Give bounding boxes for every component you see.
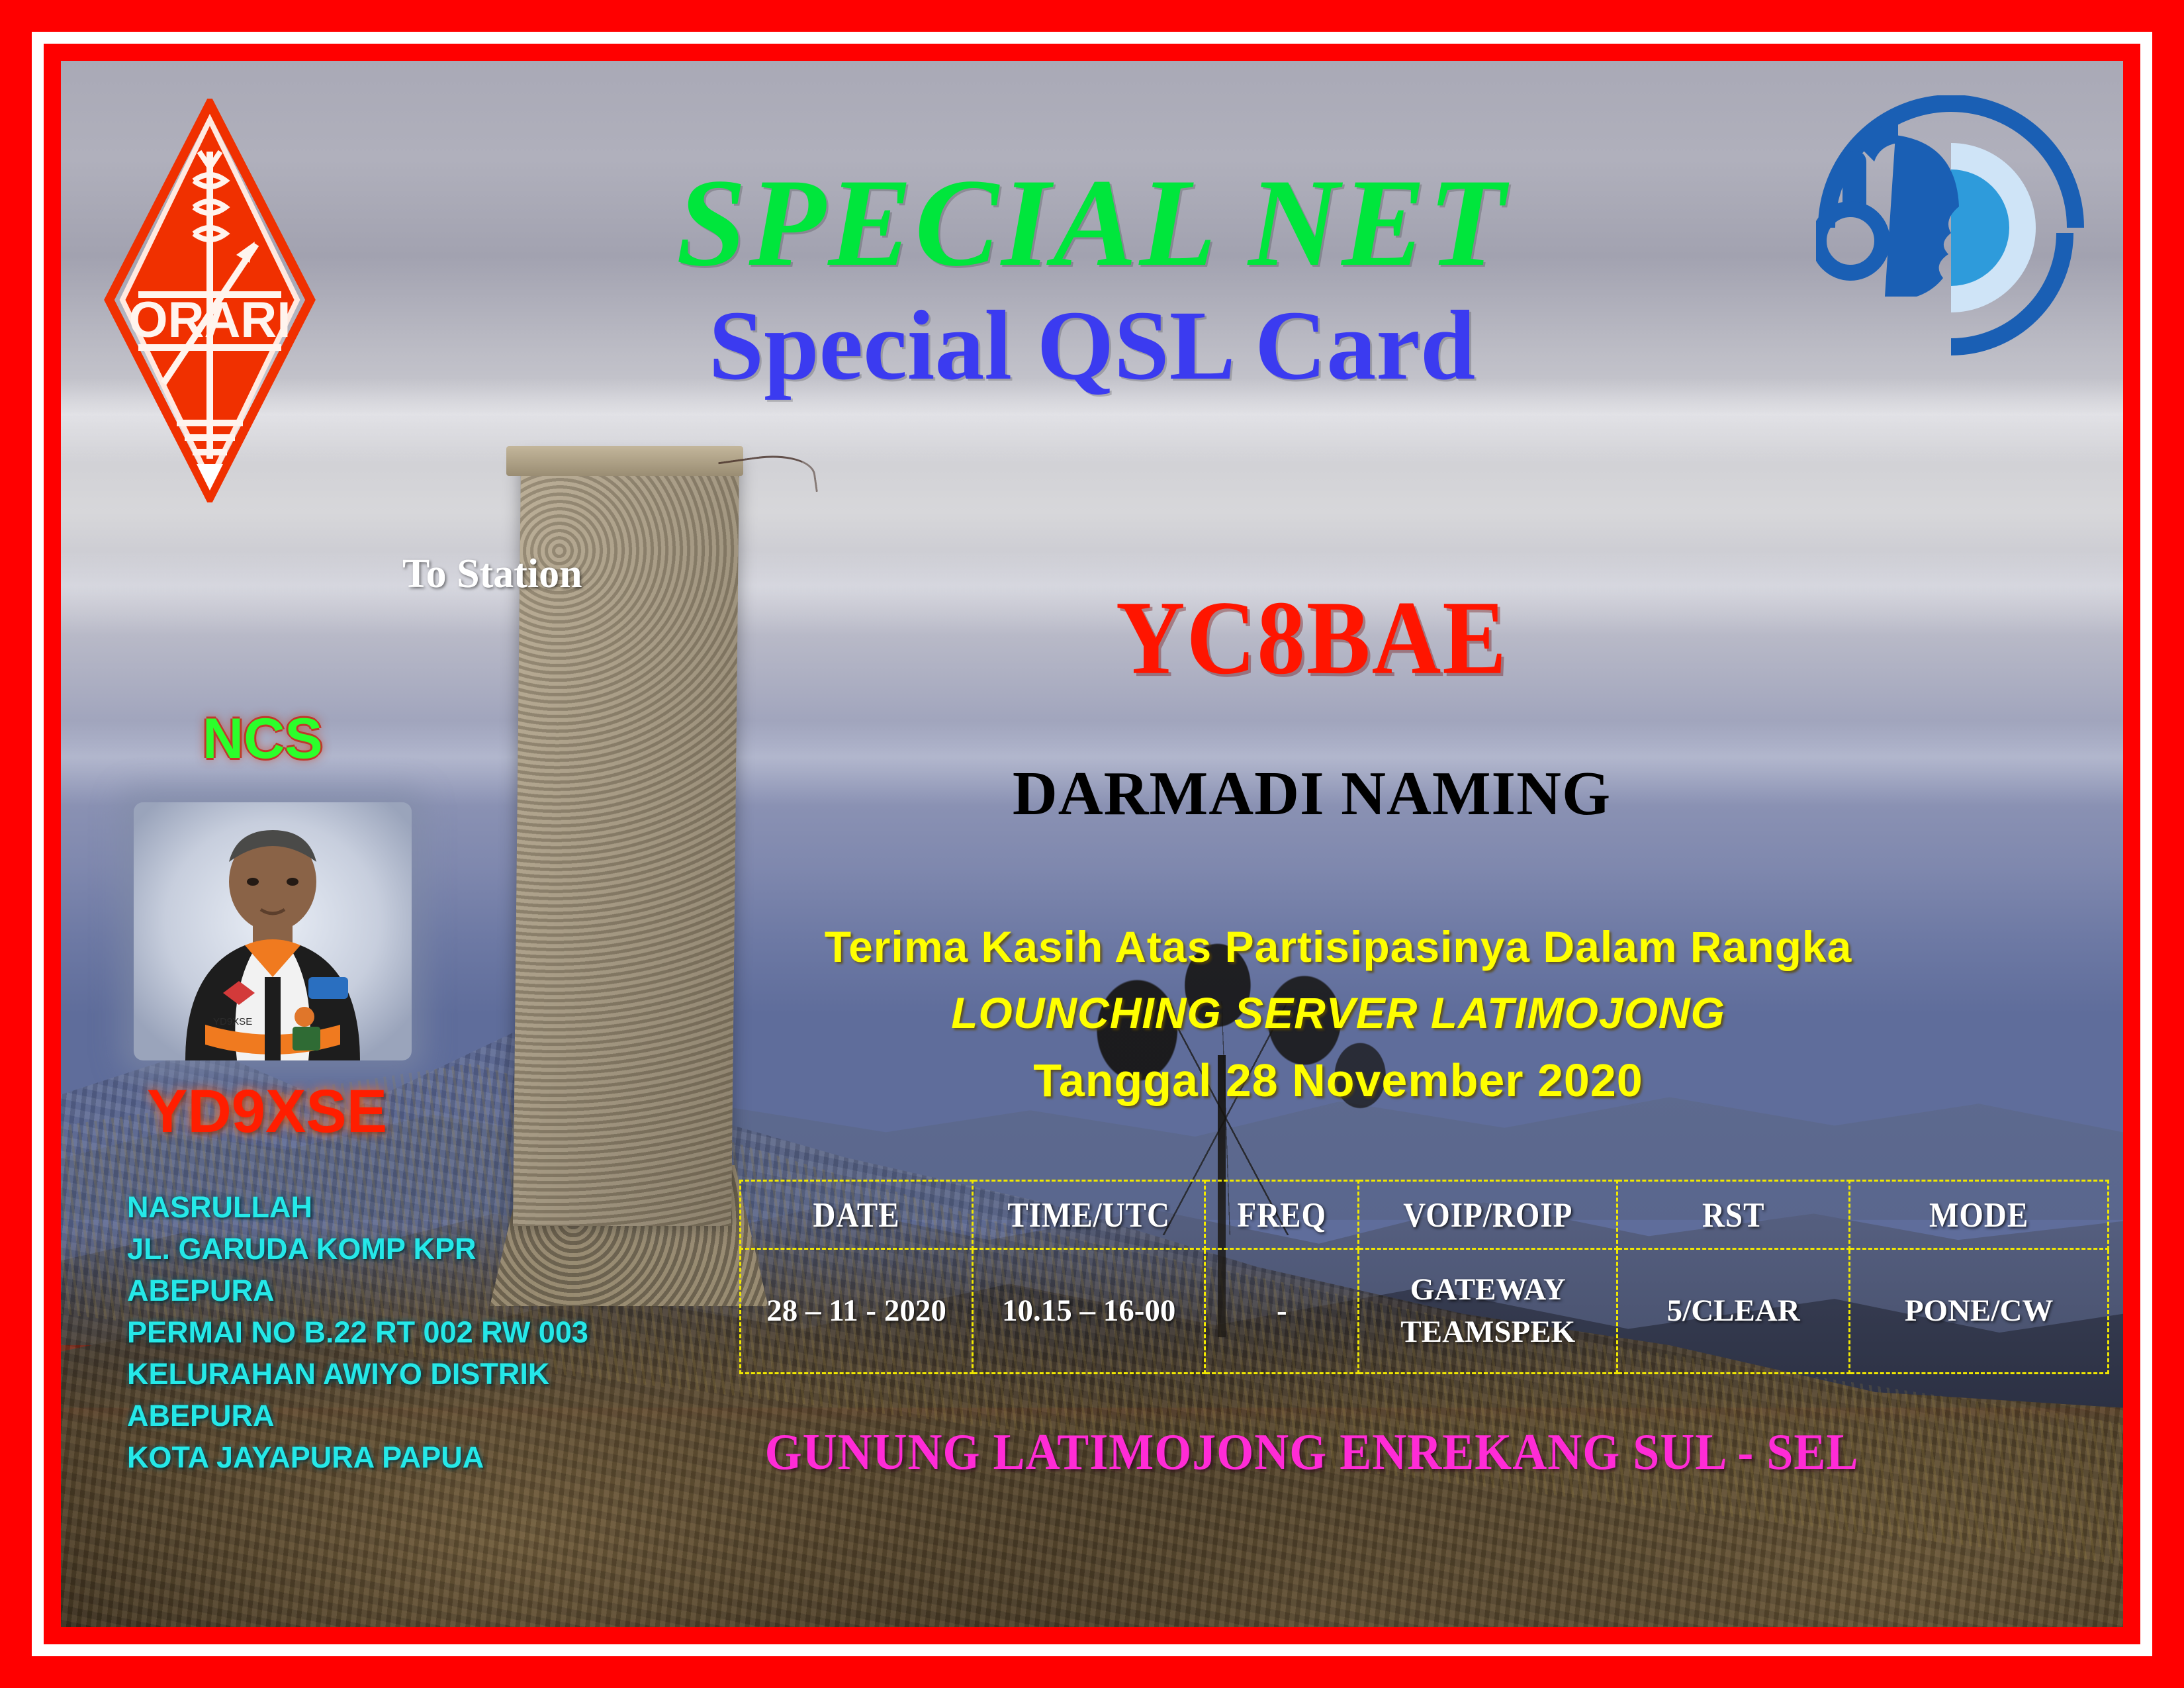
address-line: NASRULLAH (127, 1186, 630, 1228)
qso-details-table: DATE TIME/UTC FREQ VOIP/ROIP RST MODE 28… (739, 1180, 2109, 1374)
cell-time-utc: 10.15 – 16-00 (973, 1249, 1205, 1374)
address-line: ABEPURA (127, 1270, 630, 1311)
thanks-line-1: Terima Kasih Atas Partisipasinya Dalam R… (762, 921, 1914, 972)
ncs-label: NCS (203, 706, 323, 772)
column-header-rst: RST (1617, 1176, 1850, 1252)
address-line: JL. GARUDA KOMP KPR (127, 1228, 630, 1270)
column-header-voip-roip: VOIP/ROIP (1359, 1176, 1617, 1252)
cell-mode: PONE/CW (1850, 1249, 2109, 1374)
address-line: KOTA JAYAPURA PAPUA (127, 1436, 630, 1478)
page-title-special-net: SPECIAL NET (61, 160, 2123, 286)
uniform-callsign-patch: YD9XSE (213, 1016, 252, 1027)
location-line: GUNUNG LATIMOJONG ENREKANG SUL - SEL (617, 1423, 2007, 1482)
address-line: KELURAHAN AWIYO DISTRIK (127, 1353, 630, 1395)
column-header-freq: FREQ (1205, 1176, 1359, 1252)
ncs-operator-photo: YD9XSE (134, 802, 412, 1060)
operator-name: DARMADI NAMING (842, 763, 1782, 825)
cell-rst: 5/CLEAR (1617, 1249, 1850, 1374)
table-header-row: DATE TIME/UTC FREQ VOIP/ROIP RST MODE (741, 1181, 2109, 1249)
address-line: PERMAI NO B.22 RT 002 RW 003 (127, 1311, 630, 1353)
page-subtitle-special-qsl-card: Special QSL Card (61, 296, 2123, 395)
column-header-mode: MODE (1850, 1176, 2109, 1252)
column-header-time-utc: TIME/UTC (973, 1176, 1205, 1252)
qsl-card-photo-area: ORARI (61, 61, 2123, 1627)
cell-date: 28 – 11 - 2020 (741, 1249, 973, 1374)
recipient-address-block: NASRULLAH JL. GARUDA KOMP KPR ABEPURA PE… (127, 1186, 630, 1478)
thanks-line-2: LOUNCHING SERVER LATIMOJONG (762, 988, 1914, 1038)
cell-freq: - (1205, 1249, 1359, 1374)
table-row: 28 – 11 - 2020 10.15 – 16-00 - GATEWAY T… (741, 1249, 2109, 1374)
column-header-date: DATE (741, 1176, 973, 1252)
thanks-line-3: Tanggal 28 November 2020 (762, 1054, 1914, 1107)
station-callsign: YC8BAE (842, 586, 1782, 692)
qsl-card-white-frame: ORARI (32, 32, 2152, 1656)
address-line: ABEPURA (127, 1395, 630, 1436)
cell-voip-roip: GATEWAY TEAMSPEK (1359, 1249, 1617, 1374)
qsl-card-outer-frame: ORARI (0, 0, 2184, 1688)
to-station-label: To Station (402, 551, 582, 598)
ncs-callsign: YD9XSE (147, 1077, 387, 1147)
qsl-card-inner-red-frame: ORARI (44, 44, 2140, 1644)
